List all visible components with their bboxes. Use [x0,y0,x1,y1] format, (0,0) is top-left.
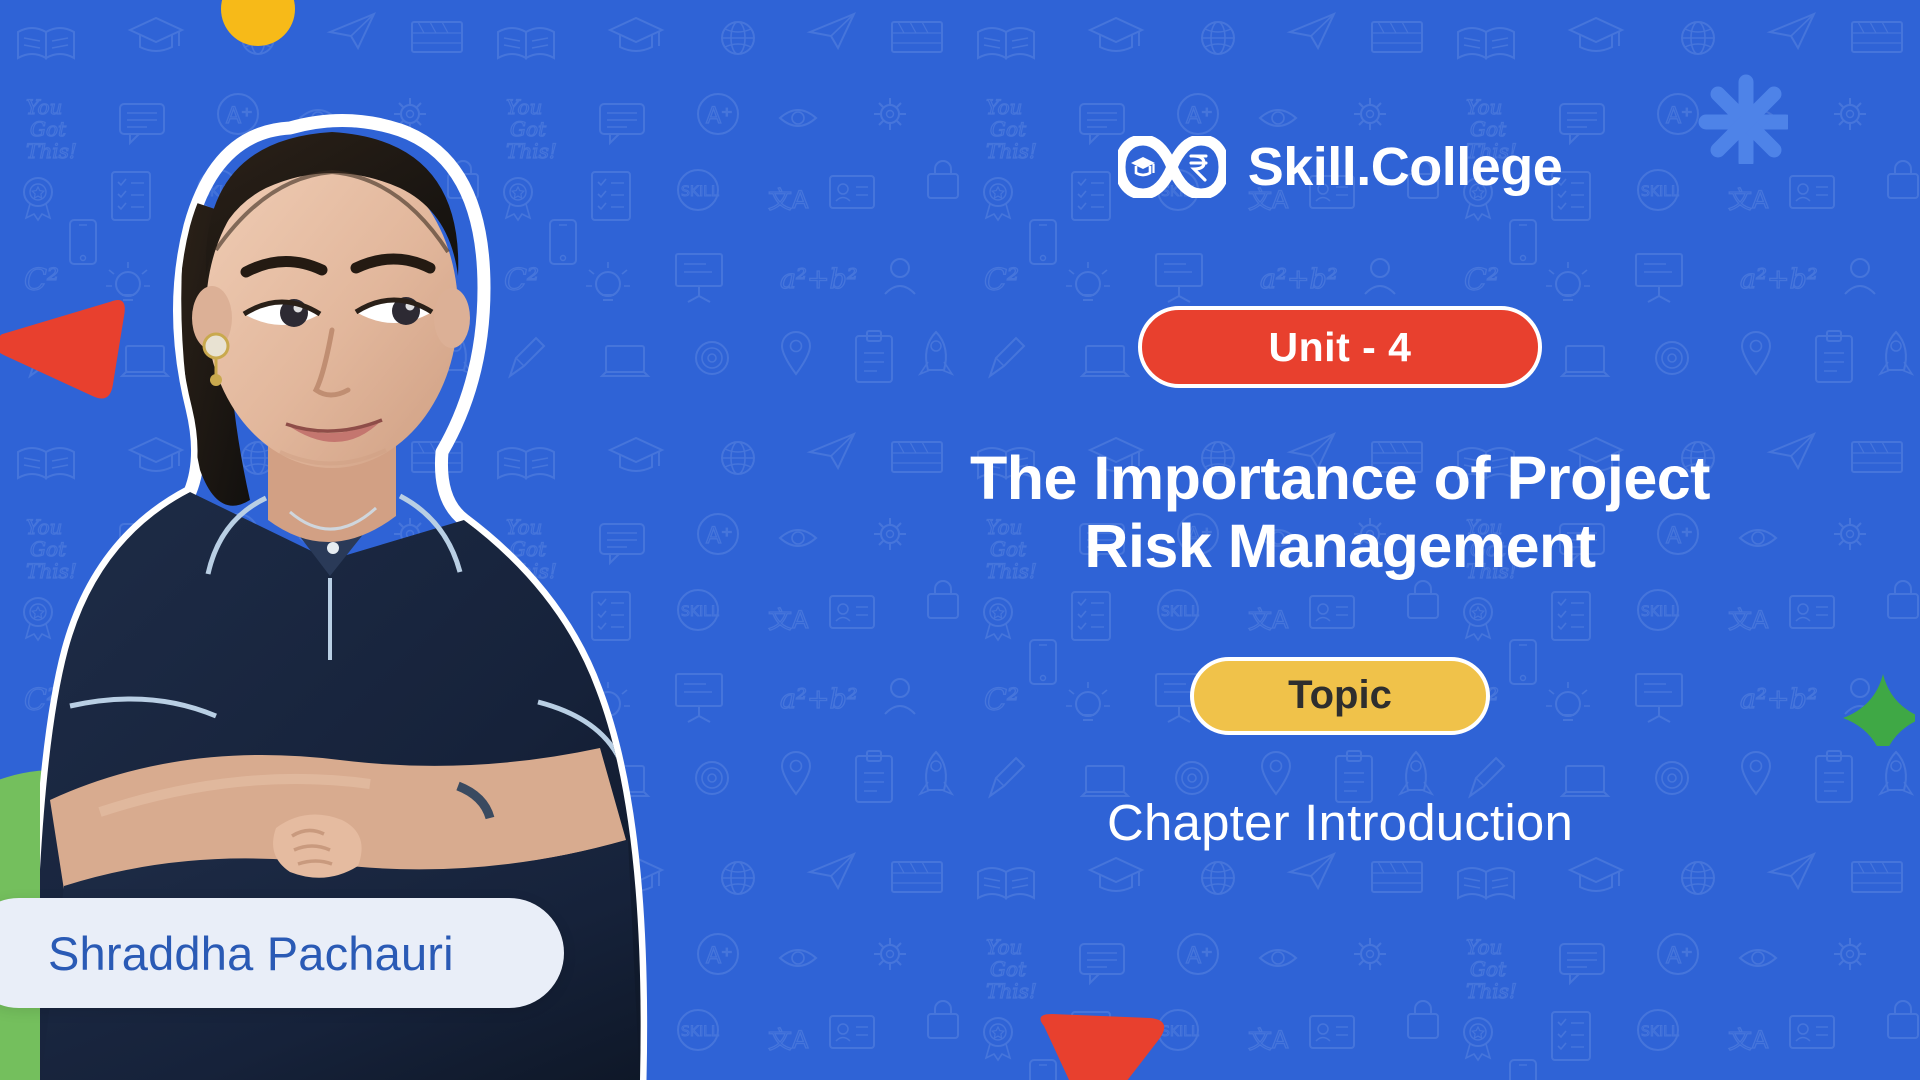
unit-badge-label: Unit - 4 [1269,324,1412,371]
brand-logo[interactable]: Skill.College [1118,136,1563,198]
title-line-1: The Importance of Project [970,444,1710,512]
brand-name: Skill.College [1248,136,1563,198]
page-title: The Importance of Project Risk Managemen… [970,444,1710,581]
red-triangle-left-decoration [0,272,144,422]
yellow-circle-decoration [221,0,295,46]
content-column: Skill.College Unit - 4 The Importance of… [760,0,1920,1080]
chapter-label: Chapter Introduction [1107,793,1573,852]
topic-badge[interactable]: Topic [1190,657,1490,735]
topic-badge-label: Topic [1288,673,1392,718]
presenter-name: Shraddha Pachauri [48,926,454,981]
unit-badge[interactable]: Unit - 4 [1138,306,1542,388]
presenter-name-plate: Shraddha Pachauri [0,898,564,1008]
slide-canvas: a²+b² A⁺ SKILL [0,0,1920,1080]
title-line-2: Risk Management [970,512,1710,580]
infinity-graduation-rupee-icon [1118,136,1226,198]
